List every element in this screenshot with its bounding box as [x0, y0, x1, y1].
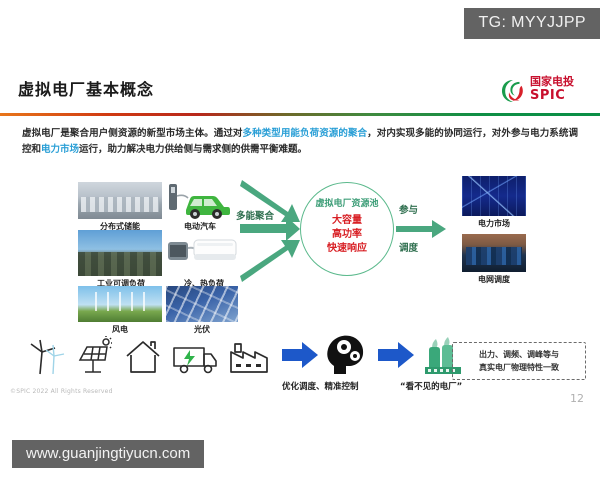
factory-icon: [226, 336, 274, 376]
caption-optimize-dispatch: 优化调度、精准控制: [282, 380, 359, 392]
thumb-grid-dispatch: [462, 234, 526, 272]
vpp-resource-pool: 虚拟电厂资源池 大容量 高功率 快速响应: [300, 182, 394, 276]
page-number: 12: [570, 392, 584, 405]
thumb-wind-power: [78, 286, 162, 322]
wind-turbine-icon: [26, 336, 66, 376]
copyright-text: ©SPIC 2022 All Rights Reserved: [10, 388, 113, 395]
intro-paragraph: 虚拟电厂是聚合用户侧资源的新型市场主体。通过对多种类型用能负荷资源的聚合，对内实…: [22, 126, 578, 158]
paragraph-seg-3: 运行，助力解决电力供给侧与需求侧的供需平衡难题。: [79, 144, 307, 155]
thumb-electric-vehicle: [166, 180, 234, 220]
label-multi-energy-aggregation: 多能聚合: [236, 208, 274, 222]
physical-characteristics-note: 出力、调频、调峰等与 真实电厂物理特性一致: [452, 342, 586, 380]
spic-logo-mark-icon: [500, 78, 526, 104]
logo-text-en: SPIC: [530, 89, 574, 102]
caption-grid-dispatch: 电网调度: [456, 274, 532, 285]
note-line-2: 真实电厂物理特性一致: [479, 361, 559, 374]
spic-logo: 国家电投 SPIC: [500, 76, 588, 106]
dispatch-arrow-icon: [396, 220, 446, 238]
pool-title: 虚拟电厂资源池: [301, 196, 393, 209]
title-divider: [0, 113, 600, 116]
slide-canvas: TG: MYYJJPP 虚拟电厂基本概念 国家电投 SPIC 虚拟电厂是聚合用户…: [0, 0, 600, 430]
pool-attr-capacity: 大容量: [301, 215, 393, 227]
house-icon: [122, 336, 164, 376]
paragraph-seg-1: 虚拟电厂是聚合用户侧资源的新型市场主体。通过对: [22, 128, 243, 139]
label-dispatch: 调度: [399, 240, 418, 254]
head-gears-icon: [324, 332, 372, 376]
caption-invisible-plant: “看不见的电厂”: [400, 380, 462, 392]
thumb-solar-power: [166, 286, 238, 322]
page-title: 虚拟电厂基本概念: [18, 76, 154, 100]
electric-truck-icon: [170, 338, 220, 376]
note-line-1: 出力、调频、调峰等与: [479, 348, 559, 361]
vpp-diagram: 分布式储能 电动汽车 工业可调负荷 冷、热负荷 风电: [0, 168, 600, 333]
pool-attr-power: 高功率: [301, 229, 393, 241]
logo-text-cn: 国家电投: [530, 76, 574, 87]
thumb-distributed-storage: [78, 182, 162, 219]
flow-arrow-2-icon: [378, 340, 414, 370]
caption-power-market: 电力市场: [456, 218, 532, 229]
caption-electric-vehicle: 电动汽车: [166, 221, 234, 232]
thumb-hvac-load: [166, 234, 238, 272]
flow-arrow-1-icon: [282, 340, 318, 370]
paragraph-highlight-2: 电力市场: [41, 144, 79, 155]
site-watermark: www.guanjingtiyucn.com: [12, 440, 204, 468]
tg-watermark-badge: TG: MYYJJPP: [464, 8, 600, 39]
pool-attr-response: 快速响应: [301, 243, 393, 255]
label-participate: 参与: [399, 202, 418, 216]
thumb-industrial-load: [78, 230, 162, 276]
paragraph-highlight-1: 多种类型用能负荷资源的聚合: [243, 128, 368, 139]
thumb-power-market: [462, 176, 526, 216]
solar-panel-icon: [74, 336, 116, 376]
